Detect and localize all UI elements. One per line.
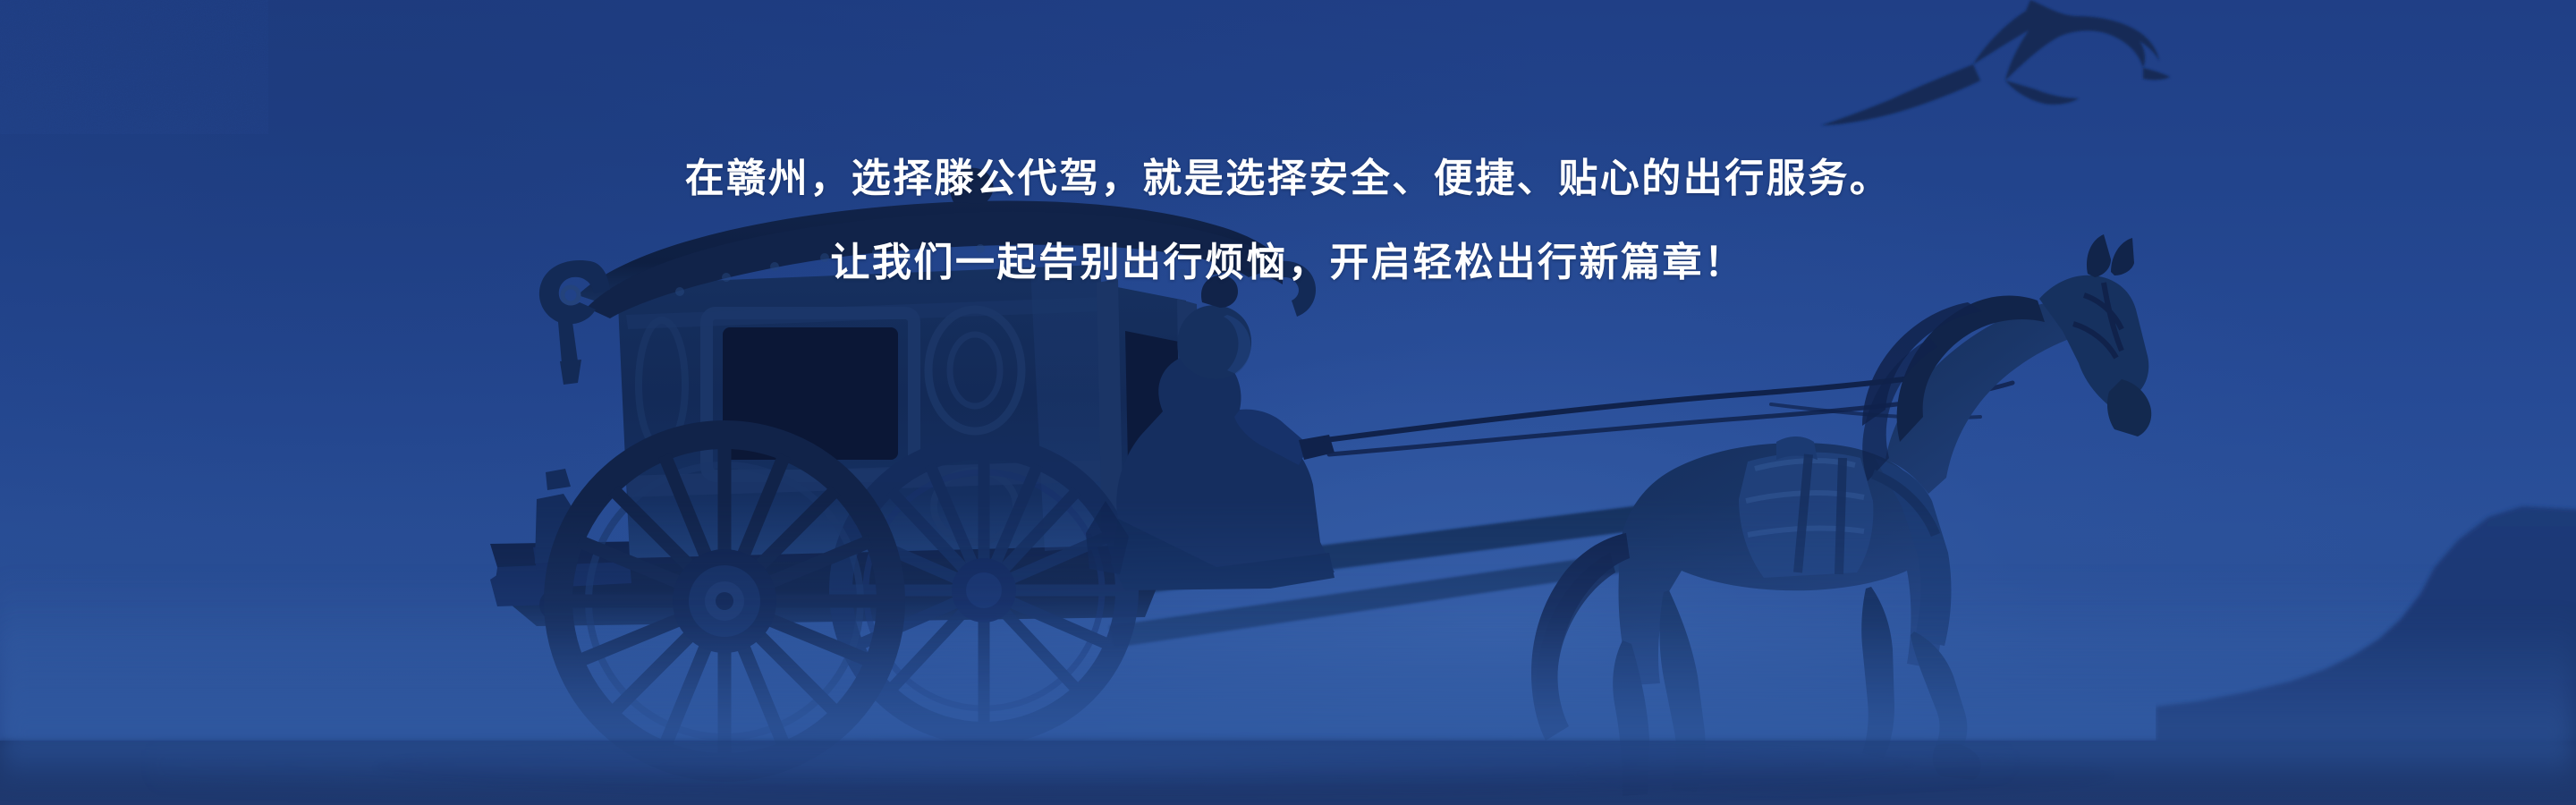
headline-line-2: 让我们一起告别出行烦恼，开启轻松出行新篇章！ <box>0 243 2576 283</box>
hero-banner: 在赣州，选择滕公代驾，就是选择安全、便捷、贴心的出行服务。 让我们一起告别出行烦… <box>0 0 2576 805</box>
headline-line-1: 在赣州，选择滕公代驾，就是选择安全、便捷、贴心的出行服务。 <box>0 159 2576 199</box>
scene-artwork <box>0 0 2576 805</box>
carriage-wheel-front <box>558 435 891 767</box>
flying-bird <box>1821 0 2170 125</box>
